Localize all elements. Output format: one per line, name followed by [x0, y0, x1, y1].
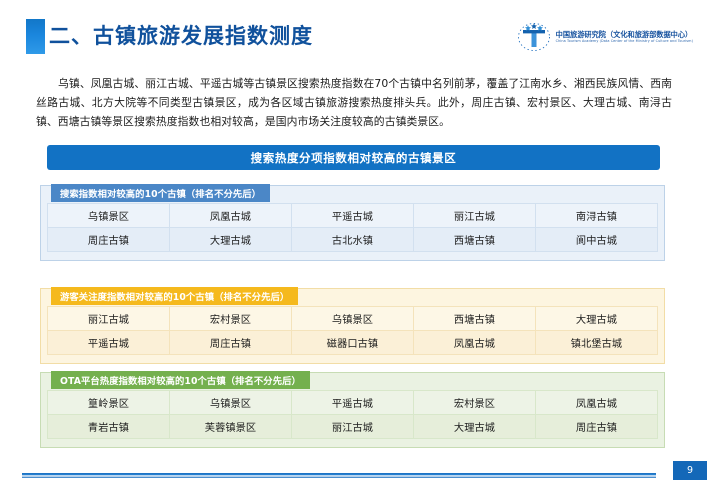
group-tag-visitor-attention-index: 游客关注度指数相对较高的10个古镇（排名不分先后）	[51, 287, 298, 305]
logo-name-en: China Tourism Academy (Data Center of th…	[556, 40, 693, 44]
table-cell: 平遥古城	[292, 204, 414, 228]
table-row: 青岩古镇 芙蓉镇景区 丽江古城 大理古城 周庄古镇	[48, 415, 658, 439]
table-row: 周庄古镇 大理古城 古北水镇 西塘古镇 阆中古城	[48, 228, 658, 252]
group-ota-heat-index: OTA平台热度指数相对较高的10个古镇（排名不分先后） 篁岭景区 乌镇景区 平遥…	[40, 372, 665, 448]
group-tag-search-index: 搜索指数相对较高的10个古镇（排名不分先后）	[51, 184, 270, 202]
page-number-badge: 9	[673, 461, 707, 480]
table-search-index: 乌镇景区 凤凰古城 平遥古城 丽江古城 南浔古镇 周庄古镇 大理古城 古北水镇 …	[47, 203, 658, 252]
footer-divider	[22, 473, 656, 478]
slide-header: 二、古镇旅游发展指数测度 中国旅游研究院（文化和旅游部数据中心） China T…	[0, 0, 707, 66]
table-visitor-attention-index: 丽江古城 宏村景区 乌镇景区 西塘古镇 大理古城 平遥古城 周庄古镇 磁器口古镇…	[47, 306, 658, 355]
table-cell: 平遥古城	[292, 391, 414, 415]
table-row: 丽江古城 宏村景区 乌镇景区 西塘古镇 大理古城	[48, 307, 658, 331]
cta-logo-icon	[517, 22, 551, 52]
table-cell: 西塘古镇	[414, 307, 536, 331]
table-cell: 西塘古镇	[414, 228, 536, 252]
table-cell: 丽江古城	[48, 307, 170, 331]
table-ota-heat-index: 篁岭景区 乌镇景区 平遥古城 宏村景区 凤凰古城 青岩古镇 芙蓉镇景区 丽江古城…	[47, 390, 658, 439]
table-cell: 镇北堡古城	[536, 331, 658, 355]
organization-logo: 中国旅游研究院（文化和旅游部数据中心） China Tourism Academ…	[517, 22, 693, 52]
table-cell: 平遥古城	[48, 331, 170, 355]
table-cell: 周庄古镇	[170, 331, 292, 355]
table-cell: 宏村景区	[414, 391, 536, 415]
table-row: 平遥古城 周庄古镇 磁器口古镇 凤凰古城 镇北堡古城	[48, 331, 658, 355]
table-cell: 大理古城	[414, 415, 536, 439]
table-cell: 丽江古城	[292, 415, 414, 439]
section-banner: 搜索热度分项指数相对较高的古镇景区	[47, 145, 660, 170]
title-accent-bar	[26, 19, 45, 54]
table-cell: 阆中古城	[536, 228, 658, 252]
table-cell: 周庄古镇	[48, 228, 170, 252]
group-tag-ota-heat-index: OTA平台热度指数相对较高的10个古镇（排名不分先后）	[51, 371, 310, 389]
table-cell: 篁岭景区	[48, 391, 170, 415]
table-cell: 磁器口古镇	[292, 331, 414, 355]
table-cell: 凤凰古城	[414, 331, 536, 355]
table-cell: 古北水镇	[292, 228, 414, 252]
logo-text-block: 中国旅游研究院（文化和旅游部数据中心） China Tourism Academ…	[556, 31, 693, 44]
table-cell: 乌镇景区	[292, 307, 414, 331]
table-cell: 乌镇景区	[48, 204, 170, 228]
table-cell: 宏村景区	[170, 307, 292, 331]
table-row: 乌镇景区 凤凰古城 平遥古城 丽江古城 南浔古镇	[48, 204, 658, 228]
table-cell: 乌镇景区	[170, 391, 292, 415]
body-paragraph: 乌镇、凤凰古城、丽江古城、平遥古城等古镇景区搜索热度指数在70个古镇中名列前茅，…	[36, 74, 672, 132]
logo-name-cn: 中国旅游研究院（文化和旅游部数据中心）	[556, 31, 693, 39]
group-visitor-attention-index: 游客关注度指数相对较高的10个古镇（排名不分先后） 丽江古城 宏村景区 乌镇景区…	[40, 288, 665, 364]
group-search-index: 搜索指数相对较高的10个古镇（排名不分先后） 乌镇景区 凤凰古城 平遥古城 丽江…	[40, 185, 665, 261]
slide: 二、古镇旅游发展指数测度 中国旅游研究院（文化和旅游部数据中心） China T…	[0, 0, 707, 500]
table-cell: 凤凰古城	[536, 391, 658, 415]
table-cell: 青岩古镇	[48, 415, 170, 439]
table-cell: 大理古城	[536, 307, 658, 331]
table-cell: 南浔古镇	[536, 204, 658, 228]
page-title: 二、古镇旅游发展指数测度	[49, 21, 313, 51]
table-row: 篁岭景区 乌镇景区 平遥古城 宏村景区 凤凰古城	[48, 391, 658, 415]
table-cell: 芙蓉镇景区	[170, 415, 292, 439]
table-cell: 凤凰古城	[170, 204, 292, 228]
table-cell: 大理古城	[170, 228, 292, 252]
table-cell: 周庄古镇	[536, 415, 658, 439]
table-cell: 丽江古城	[414, 204, 536, 228]
